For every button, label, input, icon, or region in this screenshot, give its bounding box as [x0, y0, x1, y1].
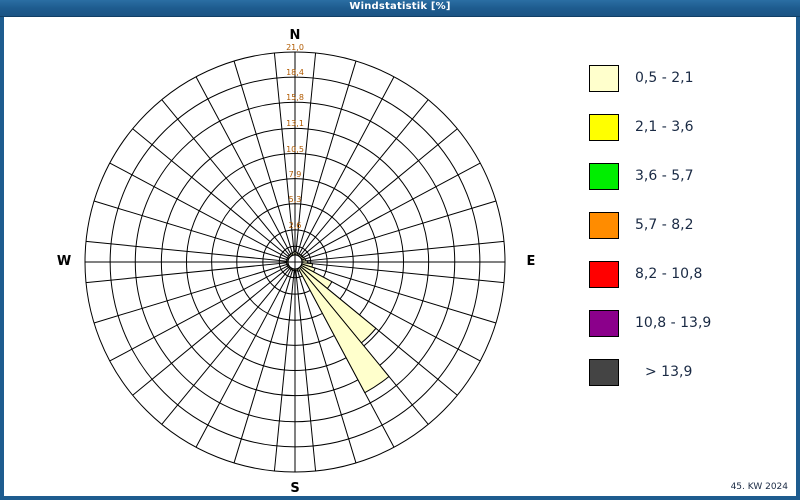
compass-label-north: N	[280, 28, 310, 43]
compass-label-west: W	[49, 254, 79, 269]
radial-tick-label: 18,4	[278, 68, 312, 77]
radial-tick-label: 21,0	[278, 43, 312, 52]
legend-item[interactable]: 5,7 - 8,2	[589, 206, 789, 255]
speed-bin-legend: 0,5 - 2,12,1 - 3,63,6 - 5,75,7 - 8,28,2 …	[589, 59, 789, 402]
footer-week-label: 45. KW 2024	[731, 482, 788, 492]
compass-label-east: E	[516, 254, 546, 269]
windrose-window: Windstatistik [%] N E S W 2,65,37,910,51…	[0, 0, 800, 500]
legend-item-label: 2,1 - 3,6	[635, 115, 693, 139]
color-swatch-icon	[589, 212, 619, 239]
legend-item-label: 5,7 - 8,2	[635, 213, 693, 237]
legend-item-label: > 13,9	[645, 360, 692, 384]
legend-item[interactable]: 2,1 - 3,6	[589, 108, 789, 157]
radial-tick-label: 5,3	[278, 195, 312, 204]
compass-label-south: S	[280, 481, 310, 496]
legend-item[interactable]: > 13,9	[589, 353, 789, 402]
legend-item[interactable]: 0,5 - 2,1	[589, 59, 789, 108]
color-swatch-icon	[589, 359, 619, 386]
window-frame-bottom	[0, 496, 800, 500]
window-titlebar: Windstatistik [%]	[0, 0, 800, 17]
window-frame-right	[796, 17, 800, 500]
legend-item-label: 0,5 - 2,1	[635, 66, 693, 90]
legend-item[interactable]: 3,6 - 5,7	[589, 157, 789, 206]
legend-item[interactable]: 8,2 - 10,8	[589, 255, 789, 304]
windrose-gridlines	[85, 52, 505, 472]
window-title: Windstatistik [%]	[0, 1, 800, 12]
legend-item-label: 8,2 - 10,8	[635, 262, 702, 286]
windrose-sector	[292, 252, 294, 255]
color-swatch-icon	[589, 65, 619, 92]
legend-item[interactable]: 10,8 - 13,9	[589, 304, 789, 353]
color-swatch-icon	[589, 310, 619, 337]
legend-item-label: 10,8 - 13,9	[635, 311, 711, 335]
color-swatch-icon	[589, 114, 619, 141]
chart-canvas: N E S W 2,65,37,910,513,115,818,421,0 0,…	[4, 17, 796, 496]
radial-tick-label: 7,9	[278, 170, 312, 179]
color-swatch-icon	[589, 261, 619, 288]
windrose-sectors	[287, 252, 389, 393]
radial-tick-label: 10,5	[278, 145, 312, 154]
radial-tick-label: 2,6	[278, 221, 312, 230]
color-swatch-icon	[589, 163, 619, 190]
radial-tick-label: 13,1	[278, 119, 312, 128]
legend-item-label: 3,6 - 5,7	[635, 164, 693, 188]
radial-tick-label: 15,8	[278, 93, 312, 102]
